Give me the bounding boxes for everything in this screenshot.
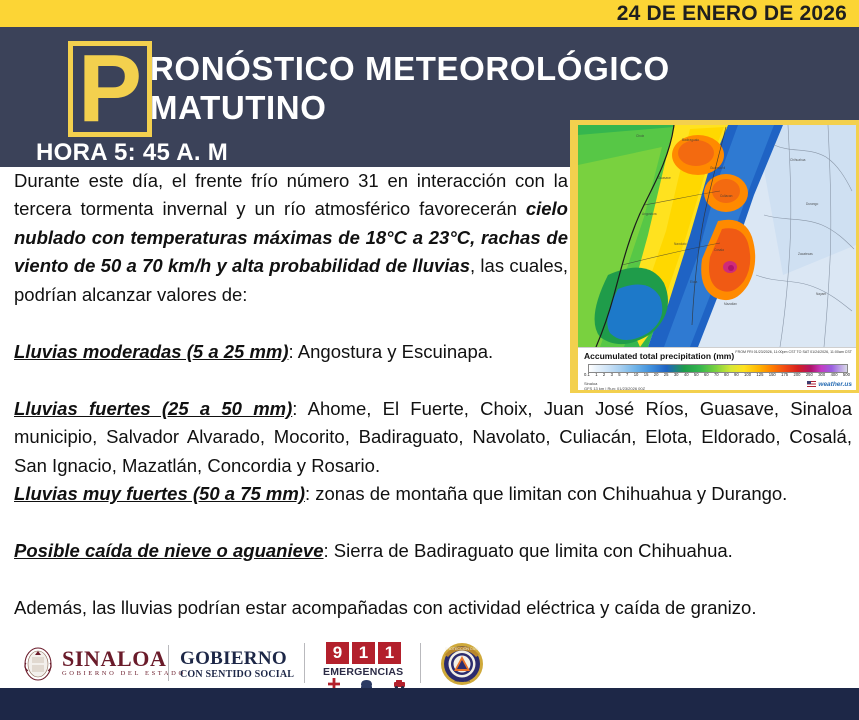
legend-title: Accumulated total precipitation (mm): [584, 351, 734, 361]
svg-text:Durango: Durango: [806, 202, 818, 206]
forecast-poster: 24 DE ENERO DE 2026 P RONÓSTICO METEOROL…: [0, 0, 859, 720]
lluvias-muy-fuertes-heading: Lluvias muy fuertes (50 a 75 mm): [14, 483, 305, 504]
footer-logos: SINALOA GOBIERNO DEL ESTADO GOBIERNO CON…: [20, 637, 500, 688]
legend-tick: 150: [769, 372, 776, 380]
svg-text:Nayarit: Nayarit: [816, 292, 826, 296]
legend-tick: 300: [818, 372, 825, 380]
legend-tick: 10: [634, 372, 639, 380]
legend-tick: 3: [611, 372, 613, 380]
legend-tick: 400: [831, 372, 838, 380]
svg-text:Angostura: Angostura: [642, 212, 657, 216]
legend-tick: 70: [714, 372, 719, 380]
legend-tick: 100: [744, 372, 751, 380]
svg-text:Elota: Elota: [690, 280, 697, 284]
precipitation-map-image: Choix Badiraguato Guamuchil Culiacan Gua…: [578, 125, 856, 347]
p-badge-letter: P: [73, 46, 147, 132]
legend-tick: 60: [704, 372, 709, 380]
911-digit: 1: [378, 642, 401, 664]
legend-tick: 175: [781, 372, 788, 380]
forecast-hour: HORA 5: 45 A. M: [36, 139, 228, 167]
svg-text:Cosala: Cosala: [714, 248, 724, 252]
legend-tick: 200: [793, 372, 800, 380]
legend-tick: 500: [843, 372, 850, 380]
pc-top-text: PROTECCIÓN CIVIL: [445, 646, 479, 651]
adicional-text: Además, las lluvias podrían estar acompa…: [14, 597, 756, 618]
proteccion-civil-logo: PROTECCIÓN CIVIL SINALOA: [438, 641, 486, 687]
date-band: 24 DE ENERO DE 2026: [0, 0, 859, 27]
paragraph-lluvias-muy-fuertes: Lluvias muy fuertes (50 a 75 mm): zonas …: [14, 480, 852, 508]
911-digit: 9: [326, 642, 349, 664]
lluvias-moderadas-text: : Angostura y Escuinapa.: [289, 341, 494, 362]
svg-text:Zacatecas: Zacatecas: [798, 252, 813, 256]
legend-tick: 30: [674, 372, 679, 380]
legend-timestamp: FROM FRI 01/23/2026, 11:00pm CST TO SAT …: [735, 350, 852, 355]
forecast-date: 24 DE ENERO DE 2026: [617, 1, 847, 26]
legend-tick: 2: [603, 372, 605, 380]
legend-tick: 125: [756, 372, 763, 380]
nieve-aguanieve-text: : Sierra de Badiraguato que limita con C…: [324, 540, 733, 561]
legend-tick: 7: [626, 372, 628, 380]
map-model-label: GFS 13 km | Run: 01/23/2026 00Z: [584, 386, 645, 390]
paragraph-nieve-aguanieve: Posible caída de nieve o aguanieve: Sier…: [14, 537, 852, 565]
legend-tick-labels: 0.1 1 2 3 5 7 10 15 20 25 30 40 50 60 70…: [584, 372, 850, 380]
map-inner: Choix Badiraguato Guamuchil Culiacan Gua…: [578, 125, 856, 390]
gobierno-subtitle: CON SENTIDO SOCIAL: [180, 669, 294, 680]
map-source-label: weather.us: [818, 381, 852, 388]
svg-text:Choix: Choix: [636, 134, 645, 138]
legend-tick: 50: [694, 372, 699, 380]
map-source: weather.us: [807, 381, 852, 388]
svg-text:Chihuahua: Chihuahua: [790, 158, 806, 162]
legend-tick: 20: [654, 372, 659, 380]
sinaloa-seal-icon: [20, 645, 56, 683]
gobierno-wordmark: GOBIERNO CON SENTIDO SOCIAL: [180, 649, 294, 680]
us-flag-icon: [807, 381, 816, 387]
pc-bottom-text: SINALOA: [454, 679, 470, 683]
paragraph-lluvias-moderadas: Lluvias moderadas (5 a 25 mm): Angostura…: [14, 338, 568, 366]
svg-text:Guasave: Guasave: [658, 176, 671, 180]
paragraph-adicional: Además, las lluvias podrían estar acompa…: [14, 594, 852, 622]
nieve-aguanieve-heading: Posible caída de nieve o aguanieve: [14, 540, 324, 561]
map-region-info: Sinaloa GFS 13 km | Run: 01/23/2026 00Z: [584, 381, 645, 390]
emergencias-911-logo: 9 1 1 EMERGENCIAS: [318, 642, 414, 687]
911-digit: 1: [352, 642, 375, 664]
svg-text:Navolato: Navolato: [674, 242, 687, 246]
legend-tick: 5: [618, 372, 620, 380]
map-svg: Choix Badiraguato Guamuchil Culiacan Gua…: [578, 125, 856, 347]
intro-lead: Durante este día, el frente frío número …: [14, 170, 568, 219]
911-digits: 9 1 1: [326, 642, 401, 664]
legend-tick: 80: [724, 372, 729, 380]
legend-tick: 0.1: [584, 372, 590, 380]
bottom-band: [0, 688, 859, 720]
precipitation-map-panel: Choix Badiraguato Guamuchil Culiacan Gua…: [570, 120, 859, 393]
lluvias-fuertes-heading: Lluvias fuertes (25 a 50 mm): [14, 398, 292, 419]
legend-tick: 90: [734, 372, 739, 380]
svg-text:Culiacan: Culiacan: [720, 194, 733, 198]
svg-text:Mazatlan: Mazatlan: [724, 302, 737, 306]
legend-tick: 250: [806, 372, 813, 380]
p-badge-box: P: [68, 41, 152, 137]
paragraph-lluvias-fuertes: Lluvias fuertes (25 a 50 mm): Ahome, El …: [14, 395, 852, 480]
svg-text:Badiraguato: Badiraguato: [682, 138, 699, 142]
paragraph-intro: Durante este día, el frente frío número …: [14, 167, 568, 309]
svg-text:Guamuchil: Guamuchil: [710, 166, 726, 170]
legend-tick: 15: [644, 372, 649, 380]
legend-tick: 25: [664, 372, 669, 380]
footer-divider-1: [168, 645, 169, 681]
lluvias-muy-fuertes-text: : zonas de montaña que limitan con Chihu…: [305, 483, 787, 504]
lluvias-moderadas-heading: Lluvias moderadas (5 a 25 mm): [14, 341, 289, 362]
gobierno-title: GOBIERNO: [180, 649, 294, 669]
poster-footer: SINALOA GOBIERNO DEL ESTADO GOBIERNO CON…: [0, 637, 859, 688]
footer-divider-3: [420, 643, 421, 683]
footer-divider-2: [304, 643, 305, 683]
map-legend: Accumulated total precipitation (mm) FRO…: [578, 347, 856, 390]
legend-tick: 1: [595, 372, 597, 380]
legend-tick: 40: [684, 372, 689, 380]
page-title: RONÓSTICO METEOROLÓGICO MATUTINO: [150, 49, 810, 127]
